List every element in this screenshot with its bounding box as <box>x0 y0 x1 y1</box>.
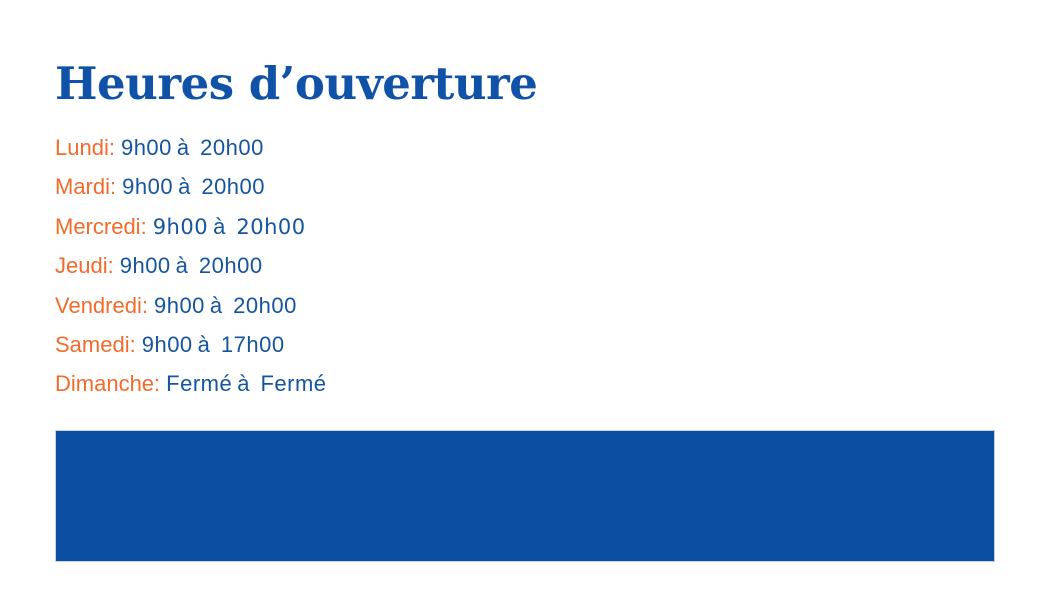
close-time: 20h00 <box>236 215 305 239</box>
open-time: 9h00 <box>153 215 208 239</box>
day-label: Lundi: <box>55 135 115 160</box>
page-title: Heures d’ouverture <box>55 58 537 110</box>
hours-row-lundi: Lundi: 9h00 à 20h00 <box>55 133 675 172</box>
day-label: Dimanche: <box>55 371 160 396</box>
opening-hours-list: Lundi: 9h00 à 20h00 Mardi: 9h00 à 20h00 … <box>55 133 675 409</box>
open-time: 9h00 <box>122 174 173 199</box>
hours-row-mercredi: Mercredi: 9h00 à 20h00 <box>55 212 675 251</box>
open-time: 9h00 <box>142 332 193 357</box>
close-time: Fermé <box>260 371 326 396</box>
close-time: 20h00 <box>200 135 264 160</box>
close-time: 17h00 <box>221 332 285 357</box>
time-separator: à <box>237 371 249 396</box>
close-time: 20h00 <box>199 253 263 278</box>
day-label: Jeudi: <box>55 253 114 278</box>
hours-row-samedi: Samedi: 9h00 à 17h00 <box>55 330 675 369</box>
time-separator: à <box>178 174 190 199</box>
open-time: 9h00 <box>154 293 205 318</box>
hours-row-jeudi: Jeudi: 9h00 à 20h00 <box>55 251 675 290</box>
time-separator: à <box>176 253 188 278</box>
time-separator: à <box>210 293 222 318</box>
close-time: 20h00 <box>233 293 297 318</box>
opening-hours-page: Heures d’ouverture Lundi: 9h00 à 20h00 M… <box>0 0 1050 600</box>
hours-row-mardi: Mardi: 9h00 à 20h00 <box>55 172 675 211</box>
open-time: Fermé <box>166 371 232 396</box>
day-label: Samedi: <box>55 332 136 357</box>
time-separator: à <box>213 214 225 239</box>
hours-row-dimanche: Dimanche: Fermé à Fermé <box>55 369 675 408</box>
bottom-banner <box>55 430 995 562</box>
day-label: Mercredi: <box>55 214 147 239</box>
open-time: 9h00 <box>121 135 172 160</box>
close-time: 20h00 <box>201 174 265 199</box>
day-label: Vendredi: <box>55 293 148 318</box>
time-separator: à <box>177 135 189 160</box>
open-time: 9h00 <box>120 253 171 278</box>
day-label: Mardi: <box>55 174 116 199</box>
time-separator: à <box>198 332 210 357</box>
hours-row-vendredi: Vendredi: 9h00 à 20h00 <box>55 291 675 330</box>
